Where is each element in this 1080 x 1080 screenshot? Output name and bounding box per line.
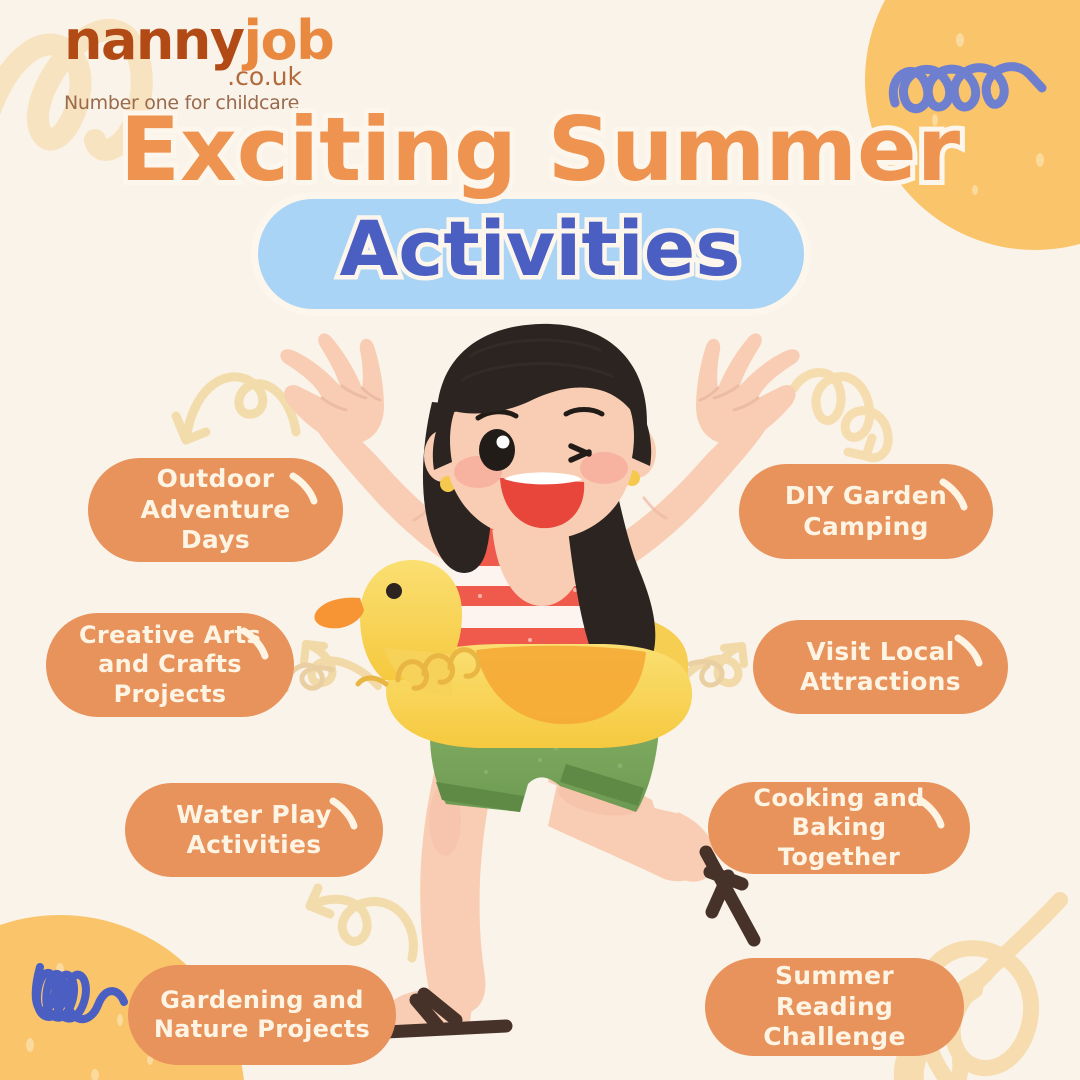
poster-canvas: nannyjob .co.uk Number one for childcare… bbox=[0, 0, 1080, 1080]
sparkle-icon bbox=[285, 470, 325, 510]
page-title-line2: Activities Activities bbox=[0, 205, 1080, 292]
activity-pill-label: Cooking and Baking Together bbox=[728, 784, 950, 872]
activity-pill-creative-arts-and-crafts-projects[interactable]: Creative Arts and Crafts Projects bbox=[46, 613, 294, 717]
page-title-line1: Exciting Summer Exciting Summer bbox=[0, 104, 1080, 196]
page-title-line1-fill: Exciting Summer bbox=[120, 98, 960, 201]
brand-name: nannyjob bbox=[64, 14, 384, 68]
activity-pill-visit-local-attractions[interactable]: Visit Local Attractions bbox=[753, 620, 1008, 714]
activity-pill-summer-reading-challenge[interactable]: Summer Reading Challenge bbox=[705, 958, 964, 1056]
page-title-line2-fill: Activities bbox=[339, 204, 740, 293]
activity-pill-label: Gardening and Nature Projects bbox=[154, 986, 370, 1045]
eye-open bbox=[479, 429, 515, 471]
activity-pill-outdoor-adventure-days[interactable]: Outdoor Adventure Days bbox=[88, 458, 343, 562]
activity-pill-label: Visit Local Attractions bbox=[800, 637, 961, 698]
activity-pill-label: Summer Reading Challenge bbox=[725, 961, 944, 1053]
activity-pill-diy-garden-camping[interactable]: DIY Garden Camping bbox=[739, 464, 993, 559]
activity-pill-label: DIY Garden Camping bbox=[785, 481, 947, 542]
activity-pill-water-play-activities[interactable]: Water Play Activities bbox=[125, 783, 383, 877]
brand-name-part1: nanny bbox=[64, 9, 243, 72]
duck-eye bbox=[386, 583, 402, 599]
activity-pill-gardening-and-nature-projects[interactable]: Gardening and Nature Projects bbox=[128, 965, 396, 1065]
activity-pill-cooking-and-baking-together[interactable]: Cooking and Baking Together bbox=[708, 782, 970, 874]
activity-pill-label: Creative Arts and Crafts Projects bbox=[79, 621, 261, 709]
activity-pill-label: Water Play Activities bbox=[176, 800, 332, 861]
activity-pill-label: Outdoor Adventure Days bbox=[140, 464, 290, 556]
